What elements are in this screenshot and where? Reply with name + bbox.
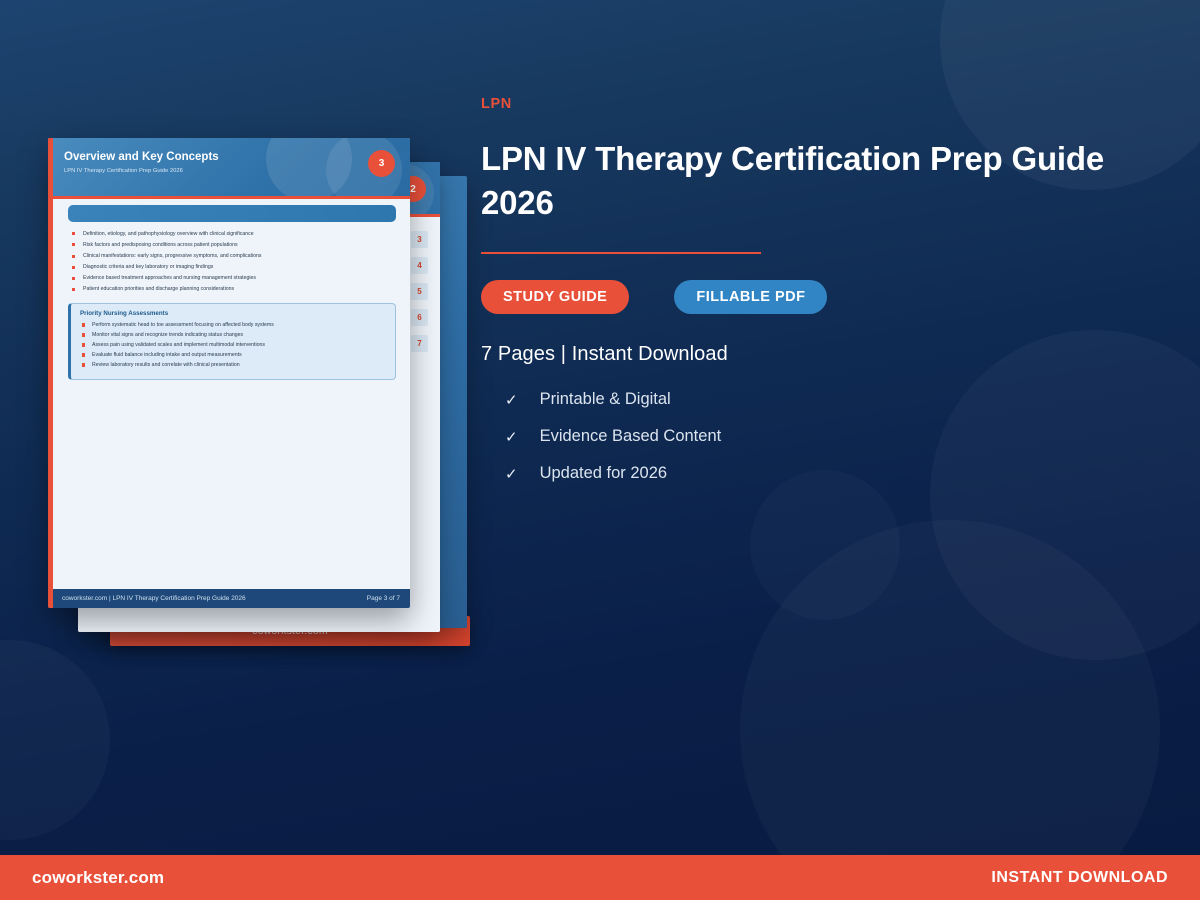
list-item: Review laboratory results and correlate …	[80, 362, 387, 368]
badge-group: STUDY GUIDE FILLABLE PDF	[481, 280, 1141, 314]
preview-sheet-front[interactable]: Overview and Key Concepts LPN IV Therapy…	[48, 138, 410, 608]
overview-bullet-list: Definition, etiology, and pathophysiolog…	[70, 231, 396, 293]
decorative-circle	[0, 640, 110, 840]
list-item: Monitor vital signs and recognize trends…	[80, 332, 387, 338]
feature-label: Evidence Based Content	[540, 427, 722, 446]
list-item: ✓ Evidence Based Content	[481, 427, 1141, 446]
document-preview[interactable]: coworkster.com 2 3 4 5 6 7 coworkster.co…	[48, 138, 473, 653]
list-item: Risk factors and predisposing conditions…	[70, 242, 396, 249]
page-title: LPN IV Therapy Certification Prep Guide …	[481, 137, 1121, 225]
page-badge: 3	[368, 150, 395, 177]
footer-page-number: Page 3 of 7	[367, 595, 400, 602]
category-eyebrow: LPN	[481, 96, 1141, 112]
callout-heading: Priority Nursing Assessments	[80, 310, 387, 317]
feature-label: Printable & Digital	[540, 390, 671, 409]
list-item: ✓ Printable & Digital	[481, 390, 1141, 409]
check-icon: ✓	[505, 465, 518, 483]
callout-list: Perform systematic head to toe assessmen…	[80, 322, 387, 368]
instant-download-label: INSTANT DOWNLOAD	[991, 869, 1168, 887]
feature-label: Updated for 2026	[540, 464, 668, 483]
product-info-panel: LPN LPN IV Therapy Certification Prep Gu…	[481, 96, 1141, 501]
footer-left-text: coworkster.com | LPN IV Therapy Certific…	[62, 595, 246, 602]
front-page-subtitle: LPN IV Therapy Certification Prep Guide …	[64, 168, 410, 174]
site-brand[interactable]: coworkster.com	[32, 868, 164, 888]
list-item: ✓ Updated for 2026	[481, 464, 1141, 483]
front-page-footer: coworkster.com | LPN IV Therapy Certific…	[48, 589, 410, 608]
list-item: Definition, etiology, and pathophysiolog…	[70, 231, 396, 238]
list-item: Perform systematic head to toe assessmen…	[80, 322, 387, 328]
list-item: Evaluate fluid balance including intake …	[80, 352, 387, 358]
section-placeholder-bar	[68, 205, 396, 222]
page-mark: 4	[411, 257, 428, 274]
fillable-pdf-badge[interactable]: FILLABLE PDF	[674, 280, 827, 314]
page-mark: 7	[411, 335, 428, 352]
list-item: Clinical manifestations: early signs, pr…	[70, 253, 396, 260]
priority-assessments-callout: Priority Nursing Assessments Perform sys…	[68, 303, 396, 380]
front-page-body: Definition, etiology, and pathophysiolog…	[48, 199, 410, 608]
page-count-and-delivery: 7 Pages | Instant Download	[481, 343, 1141, 366]
left-accent-stripe	[48, 138, 53, 608]
accent-divider	[481, 252, 761, 255]
list-item: Evidence based treatment approaches and …	[70, 275, 396, 282]
feature-list: ✓ Printable & Digital ✓ Evidence Based C…	[481, 390, 1141, 483]
check-icon: ✓	[505, 428, 518, 446]
page-mark: 3	[411, 231, 428, 248]
footer-bar: coworkster.com INSTANT DOWNLOAD	[0, 855, 1200, 900]
front-page-header: Overview and Key Concepts LPN IV Therapy…	[48, 138, 410, 196]
page-mark: 6	[411, 309, 428, 326]
list-item: Diagnostic criteria and key laboratory o…	[70, 264, 396, 271]
study-guide-badge[interactable]: STUDY GUIDE	[481, 280, 629, 314]
page-mark: 5	[411, 283, 428, 300]
front-page-title: Overview and Key Concepts	[64, 151, 410, 163]
check-icon: ✓	[505, 391, 518, 409]
list-item: Patient education priorities and dischar…	[70, 286, 396, 293]
list-item: Assess pain using validated scales and i…	[80, 342, 387, 348]
